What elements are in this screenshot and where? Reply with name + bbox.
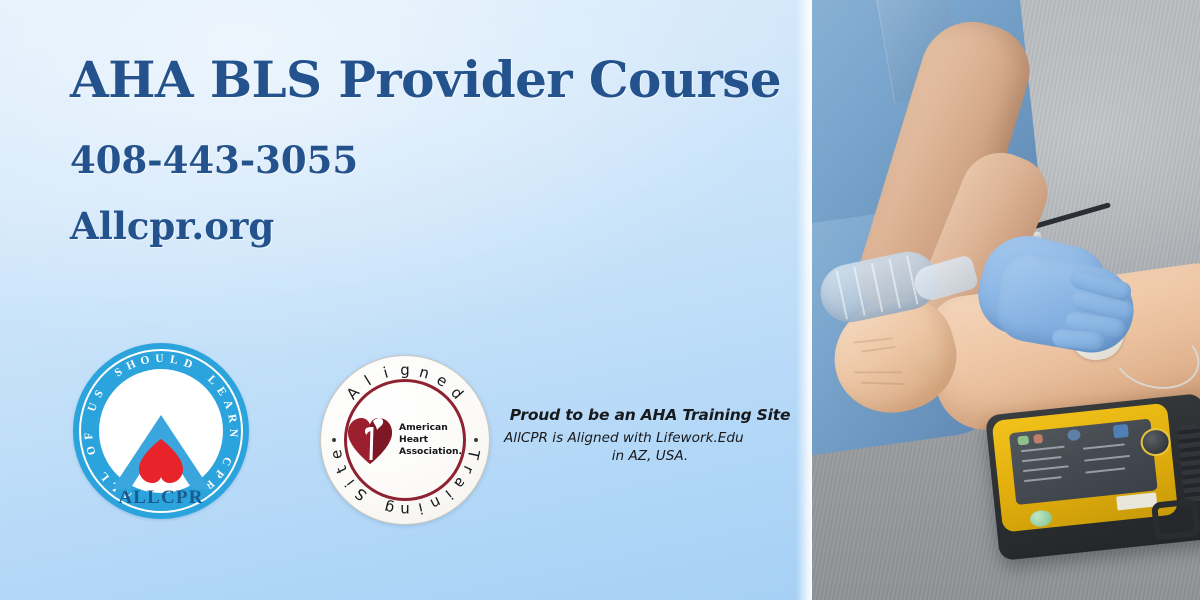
left-info-panel: AHA BLS Provider Course 408-443-3055 All… bbox=[0, 0, 812, 600]
aed-trace-7 bbox=[1085, 467, 1125, 473]
aed-status-icon-3 bbox=[1067, 429, 1081, 441]
aha-brand-line-2: Heart bbox=[399, 434, 462, 446]
allcpr-ring-letter-11: H bbox=[125, 358, 138, 373]
aed-status-icon-1 bbox=[1017, 435, 1029, 445]
allcpr-ring-letter-8: S bbox=[92, 388, 106, 400]
manikin-eye-line bbox=[862, 346, 896, 353]
manikin-brow-line bbox=[853, 337, 893, 343]
allcpr-inner-disc: ALLCPR bbox=[99, 369, 223, 493]
allcpr-ring-letter-10: S bbox=[113, 366, 125, 379]
aha-arc-bottom-letter-7: g bbox=[383, 498, 396, 518]
bvm-rib-3 bbox=[871, 263, 883, 312]
allcpr-ring-letter-24: P bbox=[212, 467, 226, 480]
aha-brand-text: American Heart Association. bbox=[399, 422, 462, 457]
aha-arc-bottom-letter-6: n bbox=[400, 501, 410, 519]
aha-brand-line-1: American bbox=[399, 422, 462, 434]
aha-aligned-training-site-seal: Aligned TrainingSite American Heart Asso… bbox=[320, 355, 490, 525]
bvm-rib-2 bbox=[853, 266, 865, 315]
tagline-line-3: in AZ, USA. bbox=[500, 447, 800, 465]
tagline-line-2: AllCPR is Aligned with Lifework.Edu bbox=[500, 429, 800, 447]
aha-brand-lockup: American Heart Association. bbox=[346, 414, 464, 466]
aed-trace-5 bbox=[1083, 443, 1125, 449]
bvm-rib-1 bbox=[836, 270, 848, 319]
event-banner: AHA BLS Provider Course 408-443-3055 All… bbox=[0, 0, 1200, 600]
aed-defibrillator-device bbox=[985, 393, 1200, 561]
bvm-rib-4 bbox=[888, 259, 900, 308]
allcpr-ring-letter-4: O bbox=[85, 444, 99, 456]
aed-carry-handle bbox=[1151, 498, 1200, 541]
allcpr-ring-letter-7: U bbox=[86, 401, 100, 413]
allcpr-ring-letter-13: U bbox=[155, 353, 164, 365]
aed-status-icon-4 bbox=[1113, 424, 1129, 438]
tagline-block: Proud to be an AHA Training Site AllCPR … bbox=[500, 406, 800, 466]
aha-arc-bottom-letter-0: T bbox=[464, 448, 484, 461]
allcpr-ring-letter-17: L bbox=[205, 373, 219, 387]
aha-heart-torch-icon bbox=[346, 415, 394, 465]
allcpr-ring-letter-15: D bbox=[182, 357, 194, 371]
allcpr-label: ALLCPR bbox=[99, 487, 223, 509]
aha-arc-bottom-letter-3: i bbox=[442, 486, 457, 503]
aed-status-icon-2 bbox=[1033, 434, 1043, 444]
aed-trace-4 bbox=[1024, 476, 1062, 482]
aha-arc-bottom-letter-5: i bbox=[417, 499, 425, 517]
manikin-jaw-line bbox=[861, 382, 905, 386]
manikin-cheek-line bbox=[854, 371, 902, 373]
aha-arc-bottom-letter-9: S bbox=[352, 484, 371, 504]
allcpr-ring-letter-20: R bbox=[225, 413, 238, 423]
aha-arc-bottom-letter-10: i bbox=[341, 476, 358, 490]
aed-trace-6 bbox=[1084, 455, 1130, 462]
allcpr-ring-letter-21: N bbox=[227, 429, 239, 438]
aha-arc-bottom-letter-2: a bbox=[450, 474, 470, 492]
aed-trace-3 bbox=[1023, 465, 1069, 472]
website-url[interactable]: Allcpr.org bbox=[70, 207, 790, 246]
heading-block: AHA BLS Provider Course 408-443-3055 All… bbox=[70, 54, 790, 274]
allcpr-ring-letter-14: L bbox=[169, 354, 179, 367]
aed-yellow-bezel bbox=[992, 403, 1179, 533]
aha-arc-bottom-letter-12: e bbox=[327, 448, 347, 461]
cpr-training-photo bbox=[812, 0, 1200, 600]
glove-finger-4 bbox=[1051, 328, 1104, 350]
aha-arc-bottom-letter-4: n bbox=[427, 493, 443, 513]
aed-trace-2 bbox=[1022, 456, 1062, 462]
allcpr-ring-letter-12: O bbox=[139, 354, 150, 368]
triangle-heart-icon bbox=[109, 413, 213, 491]
allcpr-ring-letter-23: C bbox=[219, 455, 233, 468]
tagline-line-1: Proud to be an AHA Training Site bbox=[500, 406, 800, 424]
allcpr-ring-letter-5: F bbox=[83, 432, 95, 440]
aha-brand-line-3: Association. bbox=[399, 446, 462, 458]
allcpr-ring-letter-19: A bbox=[221, 398, 235, 410]
aed-display-screen bbox=[1009, 419, 1158, 505]
allcpr-logo: ALLOFUSSHOULDLEARNCPR ALLCPR bbox=[73, 343, 249, 519]
page-title: AHA BLS Provider Course bbox=[70, 54, 790, 107]
aed-shock-button[interactable] bbox=[1029, 509, 1053, 527]
allcpr-ring-letter-18: E bbox=[214, 385, 228, 398]
aed-trace-1 bbox=[1021, 446, 1065, 453]
phone-number[interactable]: 408-443-3055 bbox=[70, 141, 790, 180]
